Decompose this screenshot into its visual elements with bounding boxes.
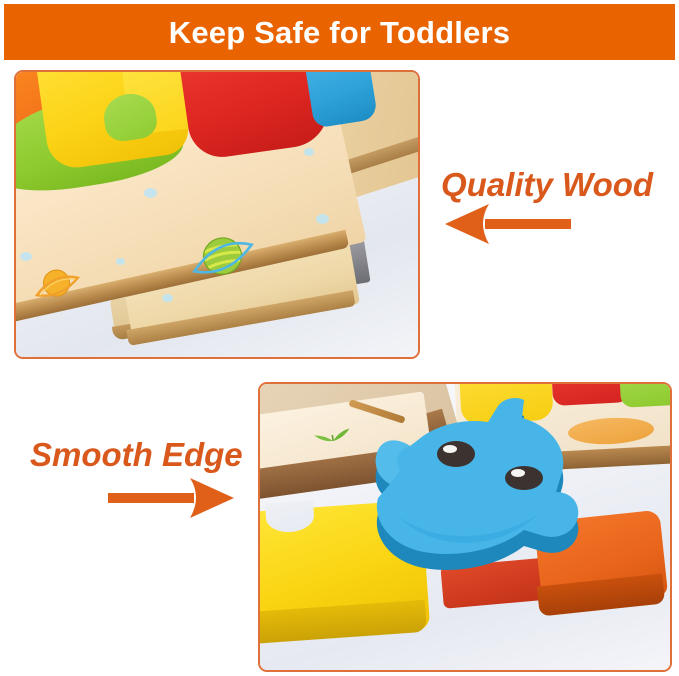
photo-smooth-edge xyxy=(258,382,672,672)
printed-star xyxy=(144,188,157,198)
photo-quality-wood xyxy=(14,70,420,359)
fish-piece-top xyxy=(338,396,618,596)
photo-quality-wood-content xyxy=(16,72,418,357)
puzzle-piece-green-back xyxy=(619,384,670,408)
page-title: Keep Safe for Toddlers xyxy=(169,17,510,48)
arrow-right-icon xyxy=(104,476,236,520)
arrow-left-icon xyxy=(443,202,575,246)
callout-label-smooth-edge: Smooth Edge xyxy=(30,438,243,471)
header-banner: Keep Safe for Toddlers xyxy=(4,4,675,60)
printed-star xyxy=(20,252,32,261)
printed-star xyxy=(304,148,314,156)
printed-star xyxy=(316,214,329,224)
photo-smooth-edge-content xyxy=(260,384,670,670)
printed-star xyxy=(162,294,173,302)
callout-label-quality-wood: Quality Wood xyxy=(441,168,653,201)
printed-star xyxy=(116,258,125,265)
